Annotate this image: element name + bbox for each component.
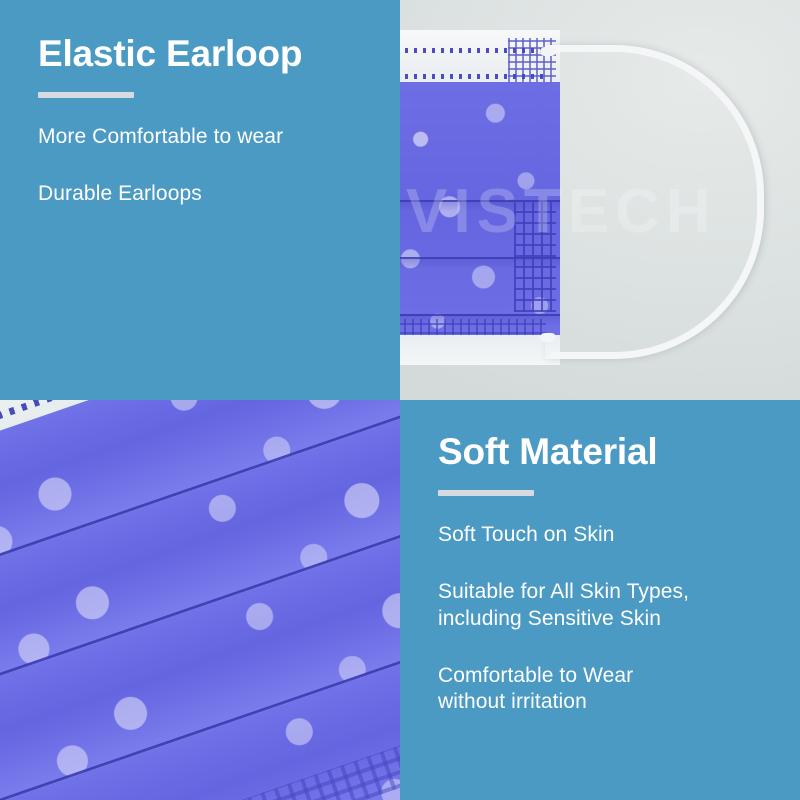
mask-top-white-band bbox=[400, 30, 560, 88]
bullet-line-1: Suitable for All Skin Types, bbox=[438, 580, 689, 603]
bullet-list-soft-material: Soft Touch on Skin Suitable for All Skin… bbox=[438, 522, 776, 716]
panel-title-soft-material: Soft Material bbox=[438, 432, 776, 472]
bullet-item: Durable Earloops bbox=[38, 181, 376, 208]
bullet-item: More Comfortable to wear bbox=[38, 124, 376, 151]
bullet-line-2: without irritation bbox=[438, 689, 776, 716]
earloop-weld-point bbox=[540, 47, 556, 56]
photo-mask-with-earloop: VISTECH bbox=[400, 0, 800, 400]
mask-illustration bbox=[400, 30, 560, 365]
mask-bottom-white-band bbox=[400, 335, 560, 365]
panel-soft-material: Soft Material Soft Touch on Skin Suitabl… bbox=[400, 400, 800, 800]
earloop-weld-point bbox=[540, 333, 556, 342]
bullet-item: Suitable for All Skin Types, including S… bbox=[438, 579, 776, 633]
title-underline-rule bbox=[438, 490, 534, 496]
title-underline-rule bbox=[38, 92, 134, 98]
bullet-list-elastic-earloop: More Comfortable to wear Durable Earloop… bbox=[38, 124, 376, 208]
infographic-sheet: Elastic Earloop More Comfortable to wear… bbox=[0, 0, 800, 800]
panel-elastic-earloop: Elastic Earloop More Comfortable to wear… bbox=[0, 0, 400, 400]
pleated-fabric-illustration bbox=[0, 400, 400, 800]
bullet-item: Comfortable to Wear without irritation bbox=[438, 663, 776, 717]
photo-fabric-closeup: VISTECH bbox=[0, 400, 400, 800]
bullet-line-1: More Comfortable to wear bbox=[38, 125, 283, 148]
panel-title-elastic-earloop: Elastic Earloop bbox=[38, 34, 376, 74]
bullet-line-1: Soft Touch on Skin bbox=[438, 523, 615, 546]
bullet-line-1: Durable Earloops bbox=[38, 182, 202, 205]
bullet-item: Soft Touch on Skin bbox=[438, 522, 776, 549]
bullet-line-2: including Sensitive Skin bbox=[438, 606, 776, 633]
bullet-line-1: Comfortable to Wear bbox=[438, 664, 633, 687]
mask-fabric-area bbox=[400, 82, 560, 342]
